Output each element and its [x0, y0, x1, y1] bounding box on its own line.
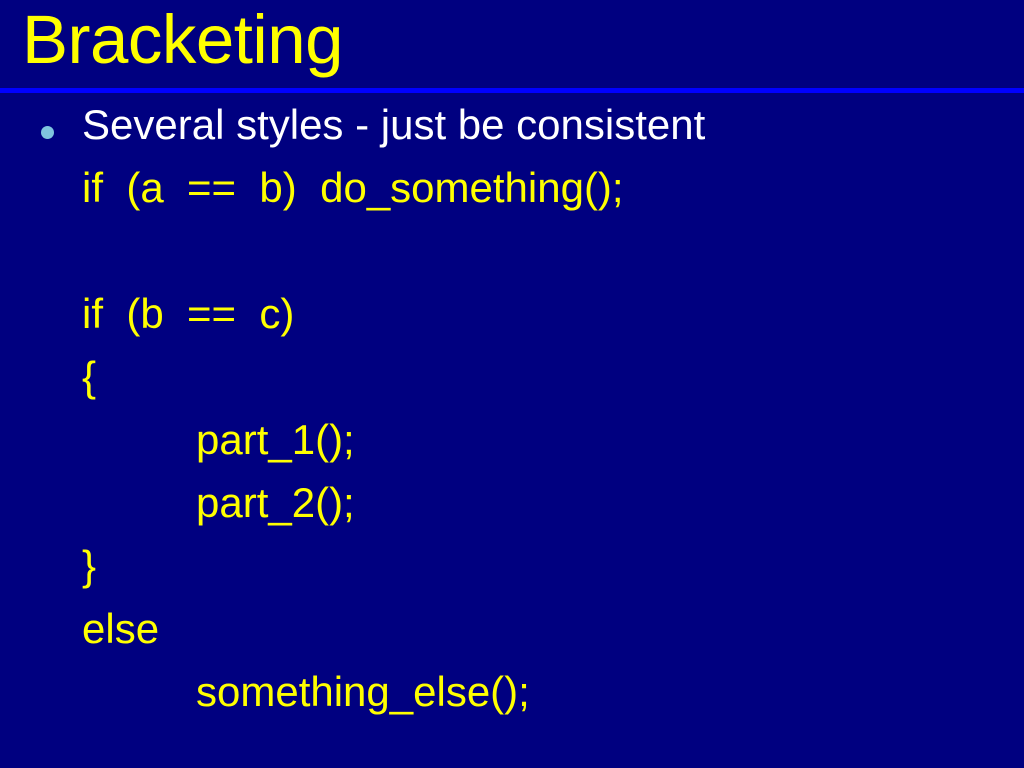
bullet-dot-icon: [41, 126, 54, 139]
slide-body: Several styles - just be consistent if (…: [0, 93, 1024, 768]
slide-title: Bracketing: [22, 0, 343, 84]
code-line: {: [82, 345, 1022, 408]
code-line: part_2();: [82, 471, 1022, 534]
code-line: if (a == b) do_something();: [82, 156, 1022, 219]
code-line: else: [82, 597, 1022, 660]
bullet-item-text: Several styles - just be consistent: [82, 93, 1022, 156]
content-lines: Several styles - just be consistent if (…: [82, 93, 1022, 723]
code-line: }: [82, 534, 1022, 597]
slide: Bracketing Several styles - just be cons…: [0, 0, 1024, 768]
code-line-blank: [82, 219, 1022, 282]
title-band: Bracketing: [0, 0, 1024, 88]
code-line: something_else();: [82, 660, 1022, 723]
code-line: part_1();: [82, 408, 1022, 471]
code-line: if (b == c): [82, 282, 1022, 345]
